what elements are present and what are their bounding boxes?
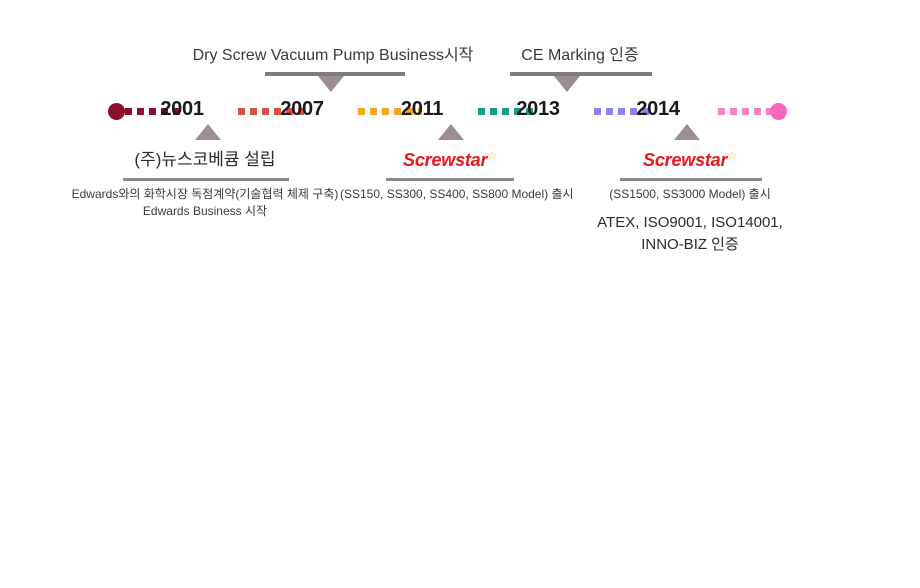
top-label-2013: CE Marking 인증 — [510, 41, 650, 65]
event-2014-desc-line-1: (SS1500, SS3000 Model) 출시 — [590, 186, 790, 203]
event-2011-rule — [386, 178, 514, 181]
event-2014-heading: Screwstar☆ — [595, 150, 785, 172]
year-label-2014[interactable]: 2014 — [633, 98, 683, 121]
year-label-2011[interactable]: 2011 — [397, 98, 447, 121]
event-2001-desc-line-1: Edwards와의 화학시장 독점계약(기술협력 체제 구축) — [55, 186, 355, 203]
event-2014-description: (SS1500, SS3000 Model) 출시 — [590, 186, 790, 203]
event-2001-desc-line-2: Edwards Business 시작 — [55, 203, 355, 220]
top-label-2013-rule — [510, 72, 652, 76]
event-2011-heading: Screwstar☆ — [345, 150, 555, 172]
event-2001-description: Edwards와의 화학시장 독점계약(기술협력 체제 구축) Edwards … — [55, 186, 355, 221]
timeline-start-marker — [108, 103, 125, 120]
event-2014-cert-line-2: INNO-BIZ 인증 — [580, 234, 800, 256]
marker-triangle-2014 — [674, 124, 700, 140]
timeline-end-marker — [770, 103, 787, 120]
marker-triangle-2011 — [438, 124, 464, 140]
year-label-2001[interactable]: 2001 — [157, 98, 207, 121]
event-2001-rule — [123, 178, 289, 181]
timeline-diagram: 2001 2007 2011 2013 2014 Dry Screw Vacuu… — [0, 0, 920, 588]
top-label-2007: Dry Screw Vacuum Pump Business시작 — [187, 41, 479, 65]
timeline-segment-2014-end — [718, 108, 774, 115]
event-2014-cert-line-1: ATEX, ISO9001, ISO14001, — [580, 212, 800, 234]
event-2011-brand-text: Screwstar — [403, 150, 487, 170]
event-block-2001: (주)뉴스코베큠 설립 — [60, 150, 350, 170]
event-2014-rule — [620, 178, 762, 181]
marker-triangle-2007 — [318, 76, 344, 92]
year-label-2007[interactable]: 2007 — [277, 98, 327, 121]
event-2001-heading: (주)뉴스코베큠 설립 — [60, 150, 350, 170]
marker-triangle-2013 — [554, 76, 580, 92]
star-icon: ☆ — [487, 150, 497, 162]
year-label-2013[interactable]: 2013 — [513, 98, 563, 121]
event-2011-desc-line-1: (SS150, SS300, SS400, SS800 Model) 출시 — [340, 186, 560, 203]
event-2011-description: (SS150, SS300, SS400, SS800 Model) 출시 — [340, 186, 560, 203]
event-2014-certifications: ATEX, ISO9001, ISO14001, INNO-BIZ 인증 — [580, 212, 800, 256]
top-label-2007-rule — [265, 72, 405, 76]
event-block-2011: Screwstar☆ — [345, 150, 555, 172]
marker-triangle-2001 — [195, 124, 221, 140]
event-block-2014: Screwstar☆ — [595, 150, 785, 172]
star-icon: ☆ — [727, 150, 737, 162]
event-2014-brand-text: Screwstar — [643, 150, 727, 170]
